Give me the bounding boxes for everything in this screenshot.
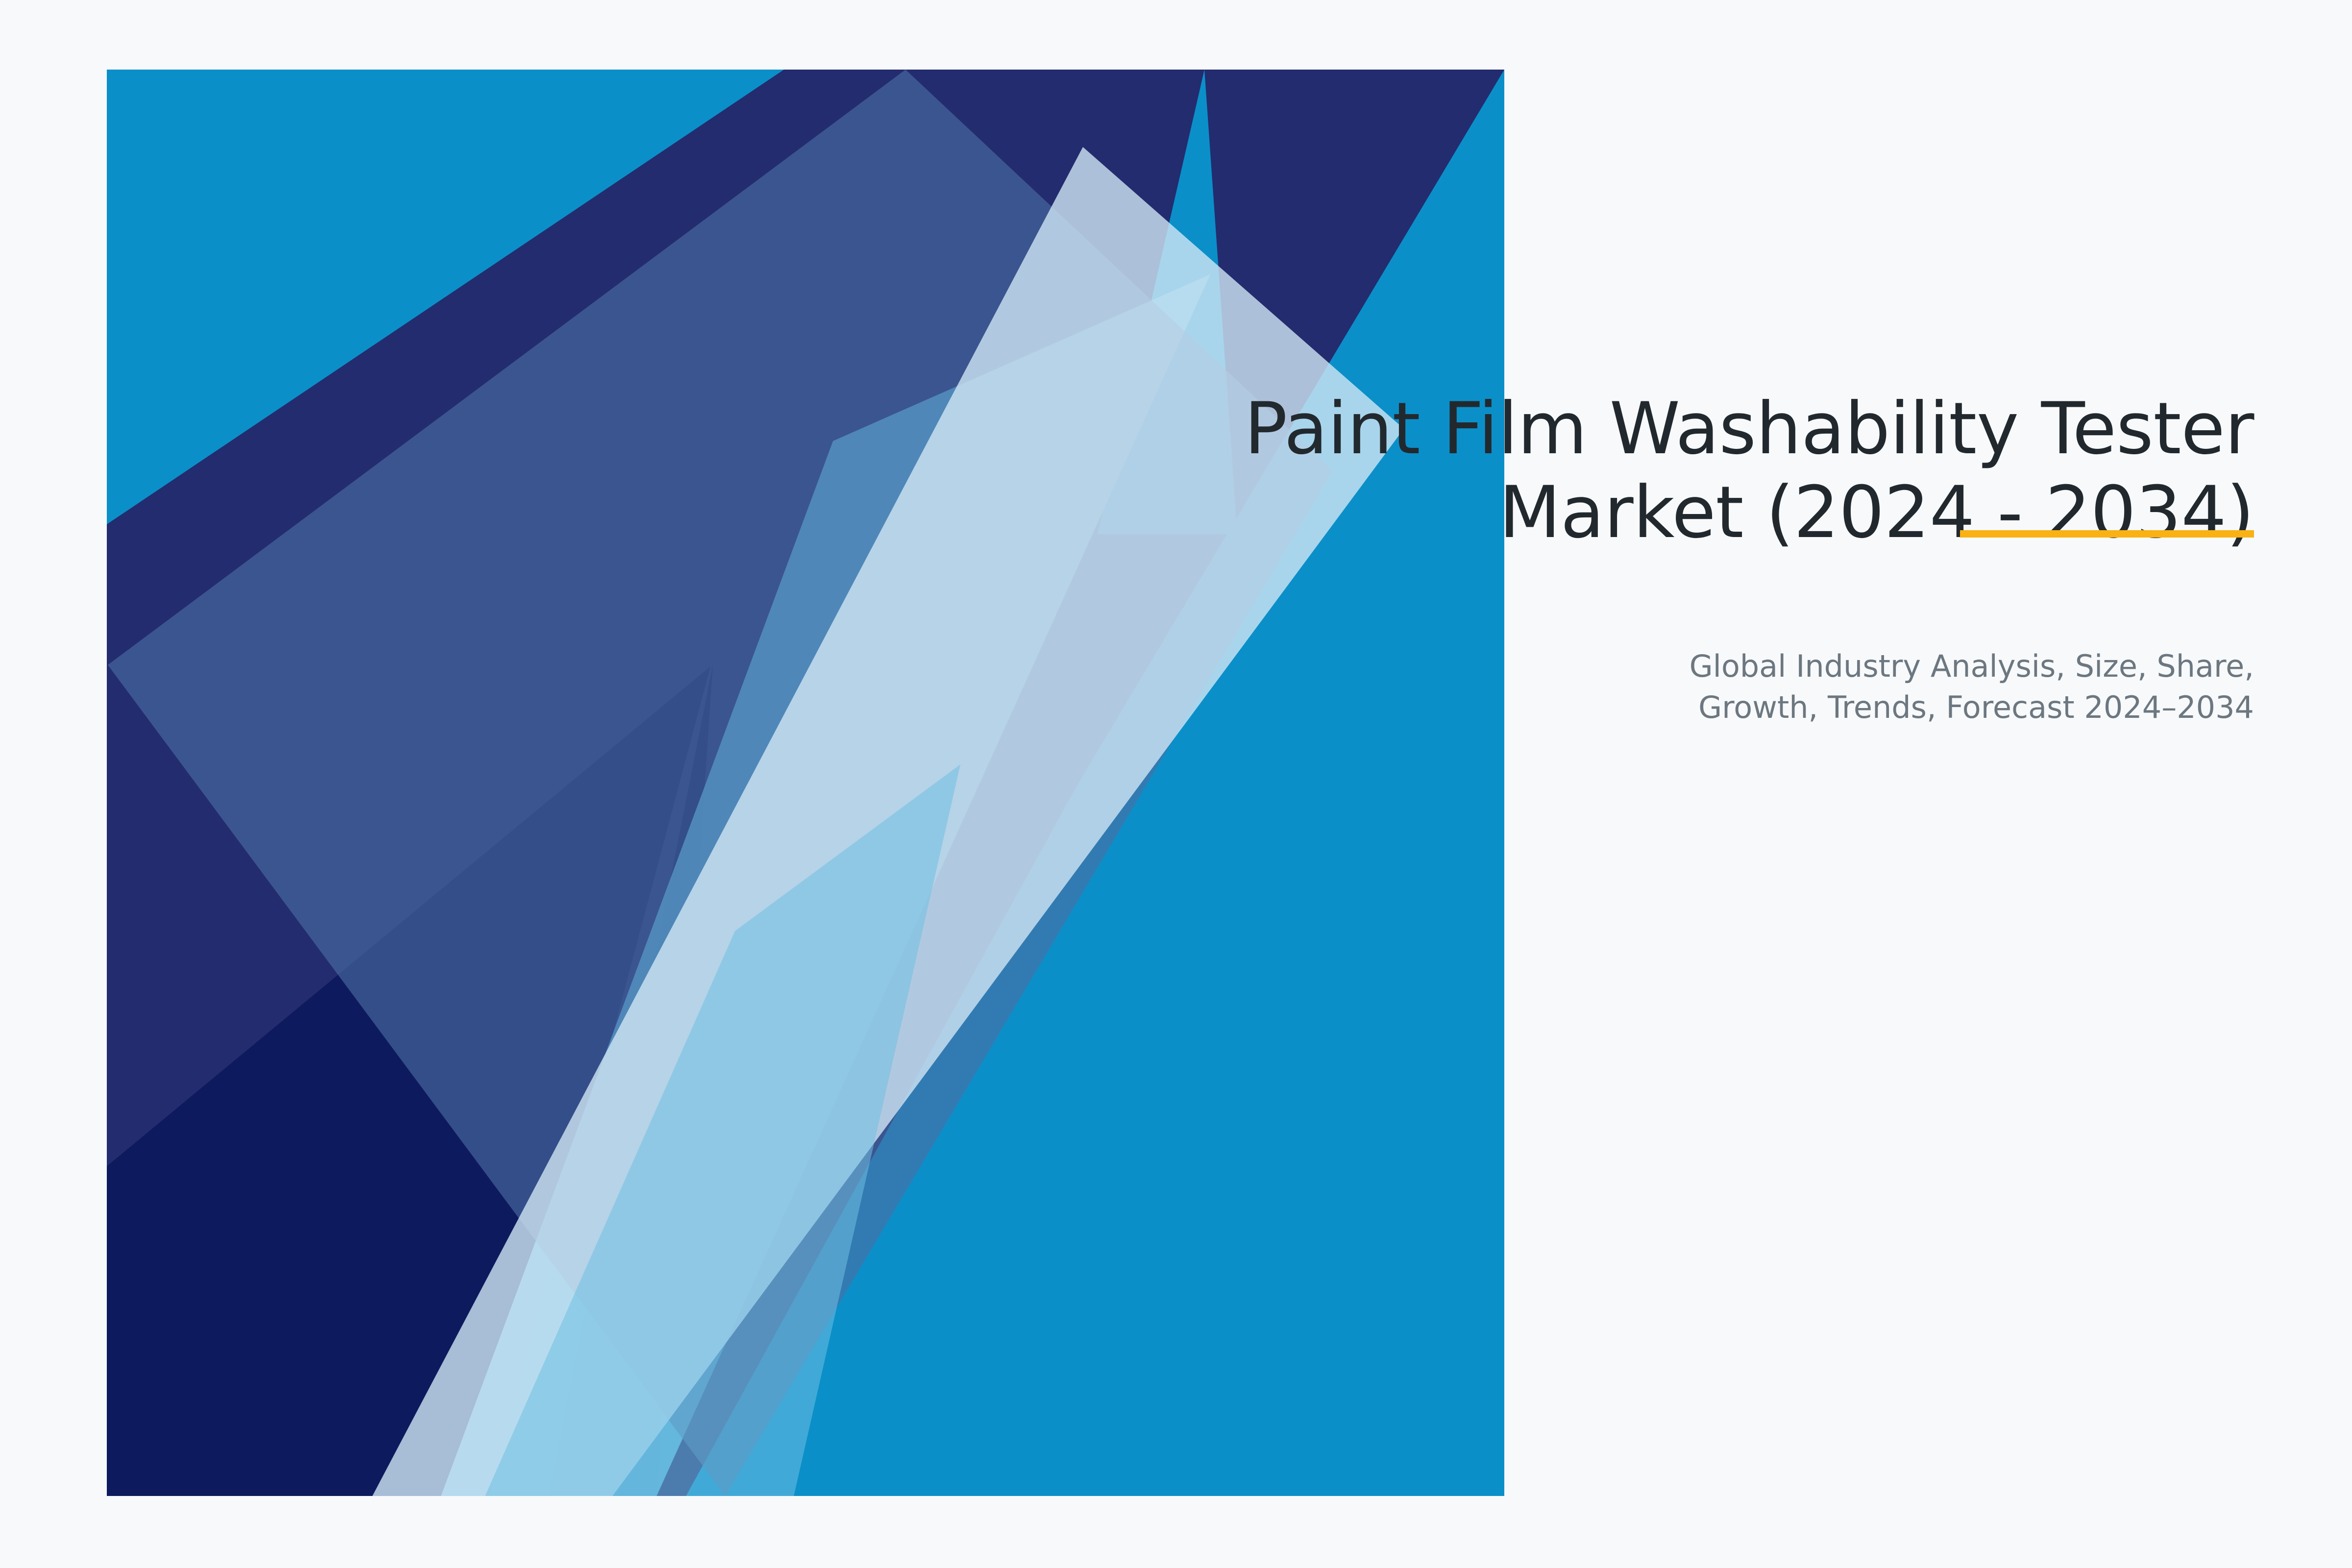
page-title: Paint Film Washability Tester Market (20… — [1127, 387, 2254, 555]
report-cover-page: Paint Film Washability Tester Market (20… — [0, 0, 2352, 1568]
title-block: Paint Film Washability Tester Market (20… — [1127, 387, 2254, 555]
abstract-geometric-cover-graphic — [0, 0, 2352, 1568]
artwork-layers — [107, 70, 1504, 1496]
title-underline-bar — [1960, 530, 2254, 538]
page-subtitle: Global Industry Analysis, Size, Share, G… — [1519, 646, 2254, 728]
